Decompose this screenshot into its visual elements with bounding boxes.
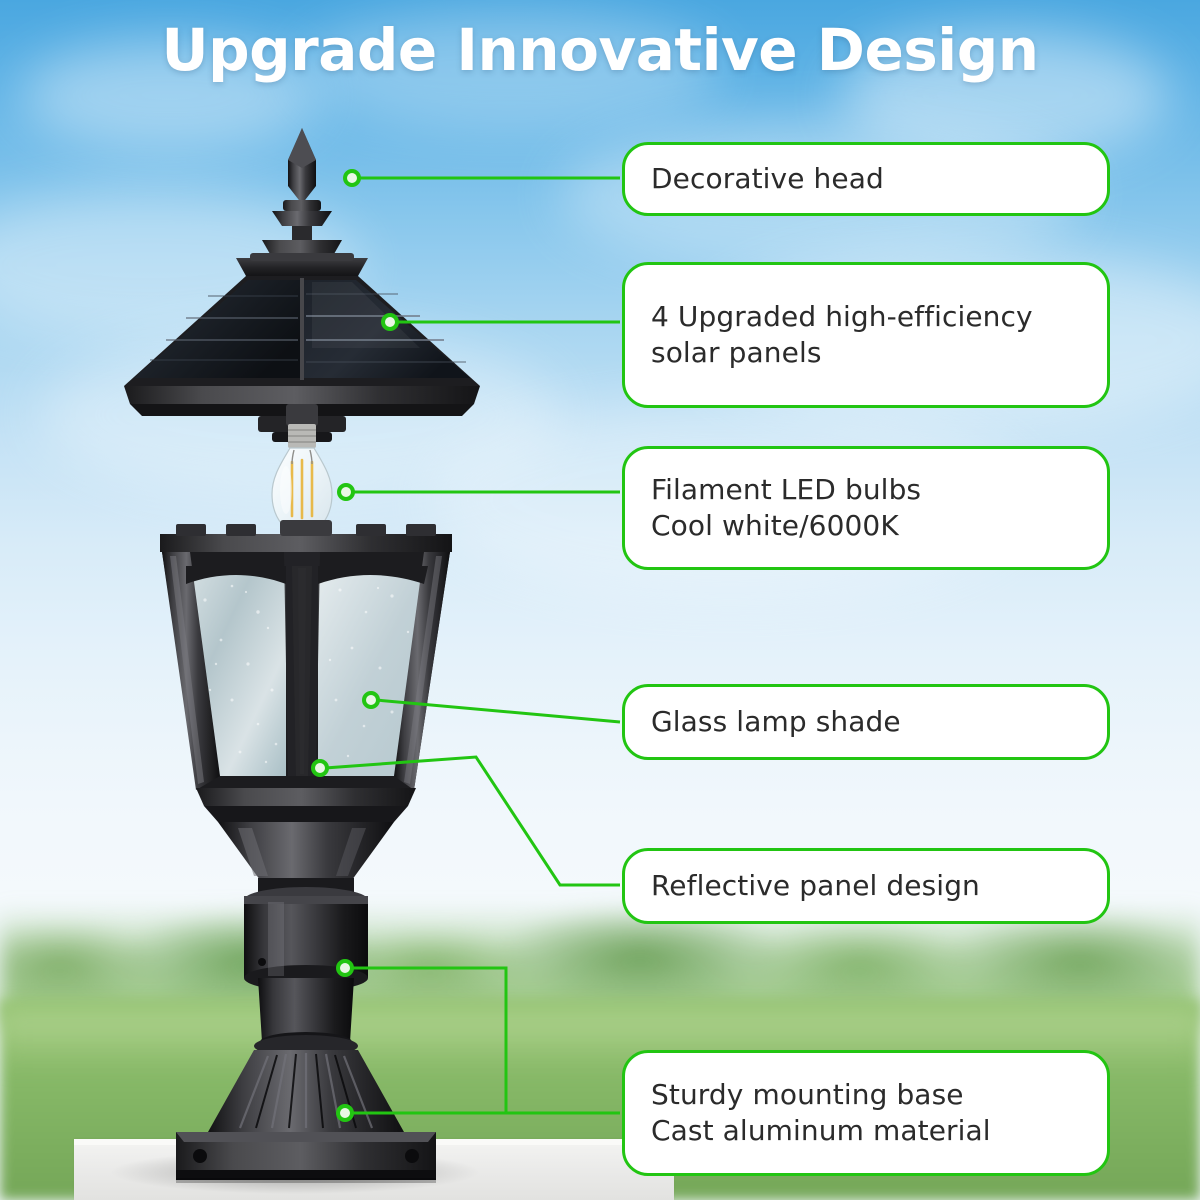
connector-dot (339, 485, 353, 499)
callout-label: Reflective panel design (651, 868, 980, 904)
connector-dot (338, 1106, 352, 1120)
callout-reflective-panel[interactable]: Reflective panel design (622, 848, 1110, 924)
callout-glass-shade[interactable]: Glass lamp shade (622, 684, 1110, 760)
page-title: Upgrade Innovative Design (0, 16, 1200, 84)
connector-dot (313, 761, 327, 775)
connector-mounting-base (350, 968, 620, 1113)
connector-dot (345, 171, 359, 185)
connector-dot (383, 315, 397, 329)
connector-glass-shade (376, 700, 620, 722)
callout-decorative-head[interactable]: Decorative head (622, 142, 1110, 216)
callout-label: Decorative head (651, 161, 884, 197)
infographic-canvas: Upgrade Innovative Design Decorative hea… (0, 0, 1200, 1200)
callout-label: Glass lamp shade (651, 704, 901, 740)
connector-dot (364, 693, 378, 707)
callout-label: Sturdy mounting base Cast aluminum mater… (651, 1077, 991, 1149)
callout-filament-bulb[interactable]: Filament LED bulbs Cool white/6000K (622, 446, 1110, 570)
connector-reflective-panel (325, 757, 620, 885)
callout-label: Filament LED bulbs Cool white/6000K (651, 472, 921, 544)
callout-solar-panels[interactable]: 4 Upgraded high-efficiency solar panels (622, 262, 1110, 408)
callout-mounting-base[interactable]: Sturdy mounting base Cast aluminum mater… (622, 1050, 1110, 1176)
callout-label: 4 Upgraded high-efficiency solar panels (651, 299, 1033, 371)
connector-dot (338, 961, 352, 975)
